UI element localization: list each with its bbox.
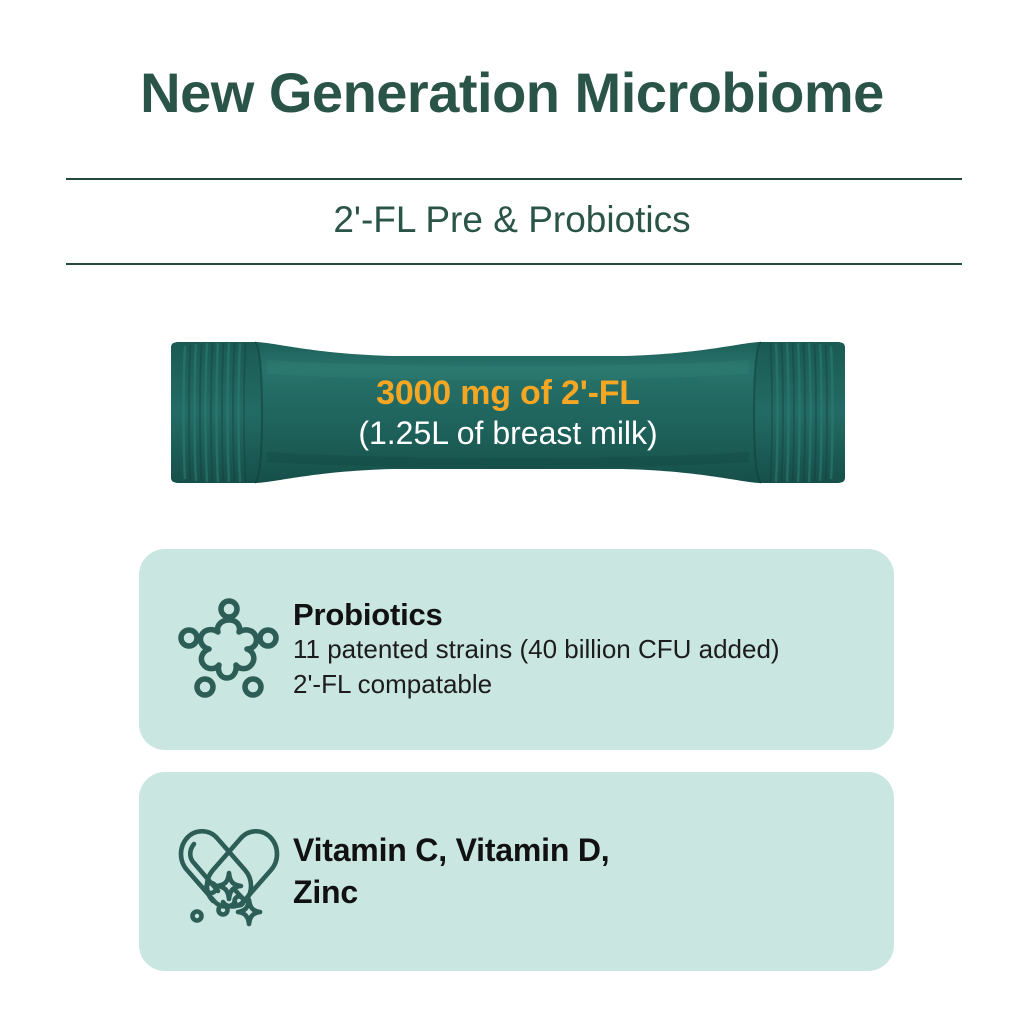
card-line-compatable: 2'-FL compatable xyxy=(293,667,874,702)
page-subtitle: 2'-FL Pre & Probiotics xyxy=(0,198,1024,242)
stick-pack-graphic: 3000 mg of 2'-FL (1.25L of breast milk) xyxy=(163,340,853,485)
microbe-icon xyxy=(165,594,293,706)
divider-top xyxy=(66,178,962,180)
card-title-vitamins-line1: Vitamin C, Vitamin D, xyxy=(293,830,874,872)
infographic-page: New Generation Microbiome 2'-FL Pre & Pr… xyxy=(0,0,1024,1024)
divider-bottom xyxy=(66,263,962,265)
card-body-probiotics: Probiotics 11 patented strains (40 billi… xyxy=(293,597,894,703)
stick-pack-primary-text: 3000 mg of 2'-FL xyxy=(376,374,640,412)
stick-pack-text: 3000 mg of 2'-FL (1.25L of breast milk) xyxy=(163,340,853,485)
page-title: New Generation Microbiome xyxy=(0,62,1024,124)
stick-pack-secondary-text: (1.25L of breast milk) xyxy=(358,415,657,452)
card-title-vitamins-line2: Zinc xyxy=(293,872,874,914)
card-title-probiotics: Probiotics xyxy=(293,597,874,633)
card-body-vitamins: Vitamin C, Vitamin D, Zinc xyxy=(293,830,894,913)
capsule-sparkle-icon xyxy=(165,816,293,928)
card-line-strains: 11 patented strains (40 billion CFU adde… xyxy=(293,632,874,667)
feature-card-probiotics: Probiotics 11 patented strains (40 billi… xyxy=(139,549,894,750)
feature-card-vitamins: Vitamin C, Vitamin D, Zinc xyxy=(139,772,894,971)
